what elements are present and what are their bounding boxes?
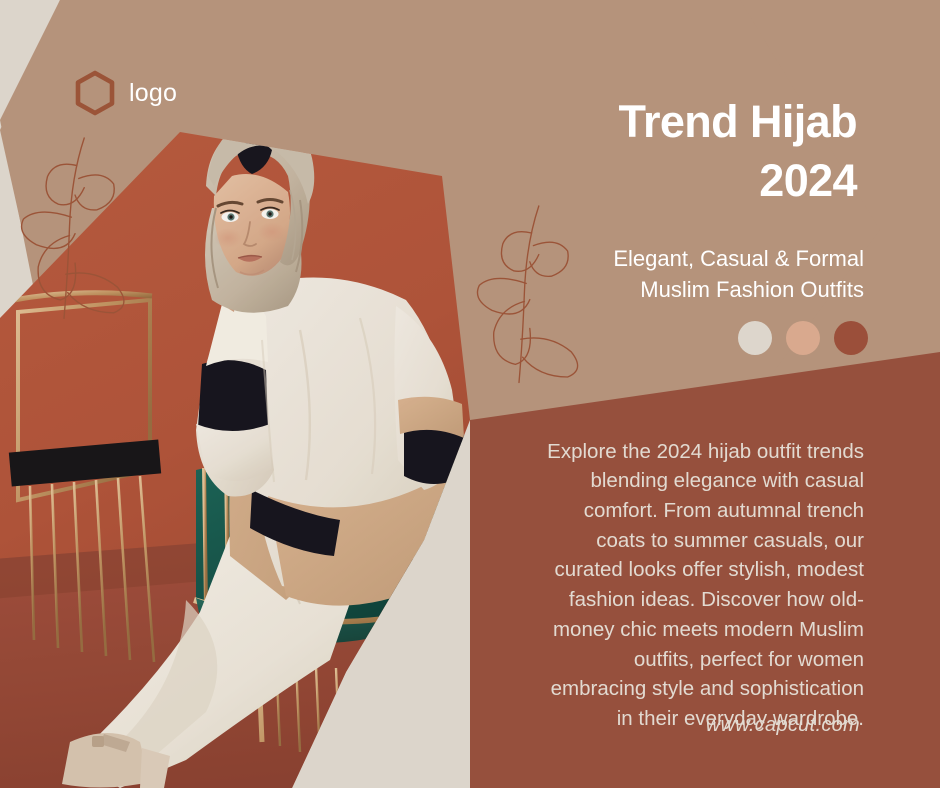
title-line-2: 2024: [437, 151, 857, 210]
swatch-peach: [786, 321, 820, 355]
swatch-cream: [738, 321, 772, 355]
color-swatch-group: [738, 321, 868, 355]
page-title: Trend Hijab 2024: [437, 92, 857, 211]
brand-logo[interactable]: logo: [74, 70, 177, 116]
hexagon-outline-icon: [74, 70, 116, 116]
subtitle: Elegant, Casual & Formal Muslim Fashion …: [444, 243, 864, 305]
website-url[interactable]: www.capcut.com: [706, 714, 860, 737]
title-line-1: Trend Hijab: [437, 92, 857, 151]
poster-canvas: logo Trend Hijab 2024 Elegant, Casual & …: [0, 0, 940, 788]
swatch-rust: [834, 321, 868, 355]
subtitle-line-2: Muslim Fashion Outfits: [444, 274, 864, 305]
logo-text: logo: [129, 81, 177, 106]
leaf-left-icon: [22, 138, 124, 318]
subtitle-line-1: Elegant, Casual & Formal: [444, 243, 864, 274]
body-paragraph: Explore the 2024 hijab outfit trends ble…: [534, 437, 864, 734]
